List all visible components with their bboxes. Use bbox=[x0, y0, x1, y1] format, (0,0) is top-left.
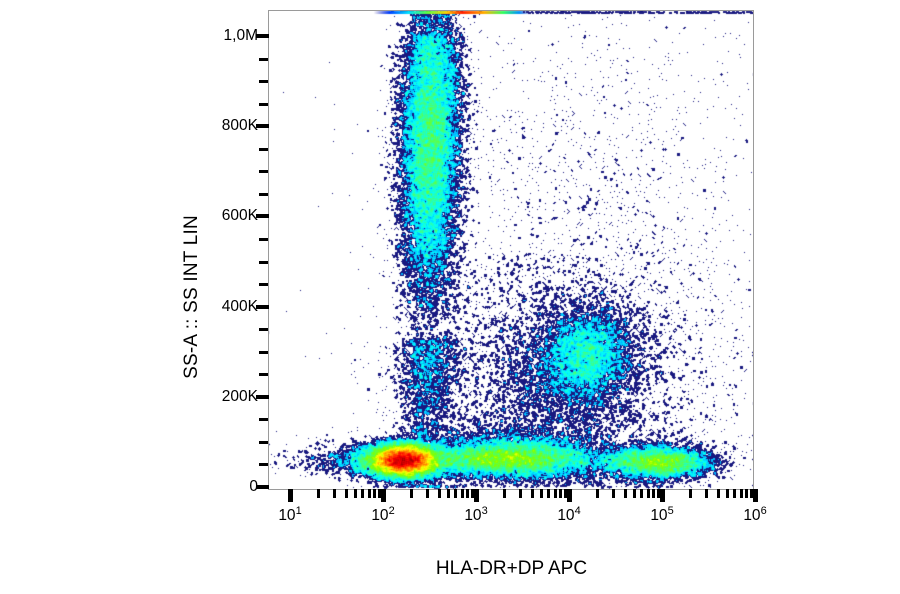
y-minor-tick bbox=[259, 80, 268, 83]
x-tick-exponent: 4 bbox=[575, 505, 581, 517]
y-tick-label: 1,0M bbox=[224, 27, 258, 45]
x-minor-tick bbox=[640, 489, 643, 498]
x-tick-label: 103 bbox=[464, 505, 487, 525]
x-major-tick bbox=[660, 489, 665, 502]
x-minor-tick bbox=[426, 489, 429, 498]
y-major-tick bbox=[256, 395, 269, 399]
x-minor-tick bbox=[596, 489, 599, 498]
y-minor-tick bbox=[259, 441, 268, 444]
scatter-plot-canvas[interactable] bbox=[268, 10, 754, 490]
y-minor-tick bbox=[259, 373, 268, 376]
x-minor-tick bbox=[717, 489, 720, 498]
x-major-tick bbox=[474, 489, 479, 502]
x-minor-tick bbox=[624, 489, 627, 498]
y-minor-tick bbox=[259, 238, 268, 241]
x-tick-base: 10 bbox=[464, 507, 481, 524]
y-major-tick bbox=[256, 214, 269, 218]
x-minor-tick bbox=[461, 489, 464, 498]
x-minor-tick bbox=[633, 489, 636, 498]
x-tick-base: 10 bbox=[371, 507, 388, 524]
x-minor-tick bbox=[540, 489, 543, 498]
x-tick-base: 10 bbox=[650, 507, 667, 524]
x-tick-exponent: 6 bbox=[761, 505, 767, 517]
x-minor-tick bbox=[368, 489, 371, 498]
x-tick-base: 10 bbox=[557, 507, 574, 524]
y-tick-label: 200K bbox=[222, 388, 258, 406]
x-minor-tick bbox=[652, 489, 655, 498]
y-major-tick bbox=[256, 305, 269, 309]
y-major-tick bbox=[256, 485, 269, 489]
x-tick-exponent: 1 bbox=[296, 505, 302, 517]
x-minor-tick bbox=[361, 489, 364, 498]
x-minor-tick bbox=[333, 489, 336, 498]
x-minor-tick bbox=[503, 489, 506, 498]
y-minor-tick bbox=[259, 148, 268, 151]
x-major-tick bbox=[381, 489, 386, 502]
x-tick-label: 102 bbox=[371, 505, 394, 525]
x-minor-tick bbox=[410, 489, 413, 498]
x-minor-tick bbox=[740, 489, 743, 498]
y-tick-label: 400K bbox=[222, 298, 258, 316]
x-minor-tick bbox=[745, 489, 748, 498]
x-minor-tick bbox=[447, 489, 450, 498]
x-tick-label: 104 bbox=[557, 505, 580, 525]
y-minor-tick bbox=[259, 58, 268, 61]
x-minor-tick bbox=[373, 489, 376, 498]
x-minor-tick bbox=[647, 489, 650, 498]
x-major-tick bbox=[753, 489, 758, 502]
x-tick-exponent: 3 bbox=[482, 505, 488, 517]
x-major-tick bbox=[567, 489, 572, 502]
y-minor-tick bbox=[259, 261, 268, 264]
x-minor-tick bbox=[317, 489, 320, 498]
x-tick-base: 10 bbox=[743, 507, 760, 524]
x-minor-tick bbox=[689, 489, 692, 498]
y-tick-label: 600K bbox=[222, 207, 258, 225]
x-axis-label: HLA-DR+DP APC bbox=[268, 558, 755, 580]
x-minor-tick bbox=[466, 489, 469, 498]
x-minor-tick bbox=[612, 489, 615, 498]
x-minor-tick bbox=[345, 489, 348, 498]
y-minor-tick bbox=[259, 170, 268, 173]
x-minor-tick bbox=[547, 489, 550, 498]
x-minor-tick bbox=[531, 489, 534, 498]
y-minor-tick bbox=[259, 283, 268, 286]
y-major-tick bbox=[256, 34, 269, 38]
flow-cytometry-figure: 1,0M800K600K400K200K0 SS-A :: SS INT LIN… bbox=[0, 0, 900, 594]
x-minor-tick bbox=[559, 489, 562, 498]
x-minor-tick bbox=[354, 489, 357, 498]
y-minor-tick bbox=[259, 103, 268, 106]
x-minor-tick bbox=[554, 489, 557, 498]
x-tick-label: 106 bbox=[743, 505, 766, 525]
x-tick-exponent: 5 bbox=[668, 505, 674, 517]
y-minor-tick bbox=[259, 418, 268, 421]
y-major-tick bbox=[256, 124, 269, 128]
x-minor-tick bbox=[733, 489, 736, 498]
y-minor-tick bbox=[259, 463, 268, 466]
x-tick-label: 101 bbox=[278, 505, 301, 525]
x-tick-base: 10 bbox=[278, 507, 295, 524]
y-axis-label: SS-A :: SS INT LIN bbox=[172, 0, 212, 594]
x-minor-tick bbox=[705, 489, 708, 498]
y-minor-tick bbox=[259, 351, 268, 354]
x-major-tick bbox=[288, 489, 293, 502]
x-tick-exponent: 2 bbox=[389, 505, 395, 517]
x-minor-tick bbox=[438, 489, 441, 498]
y-tick-label: 800K bbox=[222, 117, 258, 135]
x-tick-label: 105 bbox=[650, 505, 673, 525]
x-minor-tick bbox=[726, 489, 729, 498]
x-minor-tick bbox=[519, 489, 522, 498]
y-minor-tick bbox=[259, 193, 268, 196]
x-minor-tick bbox=[454, 489, 457, 498]
y-minor-tick bbox=[259, 328, 268, 331]
